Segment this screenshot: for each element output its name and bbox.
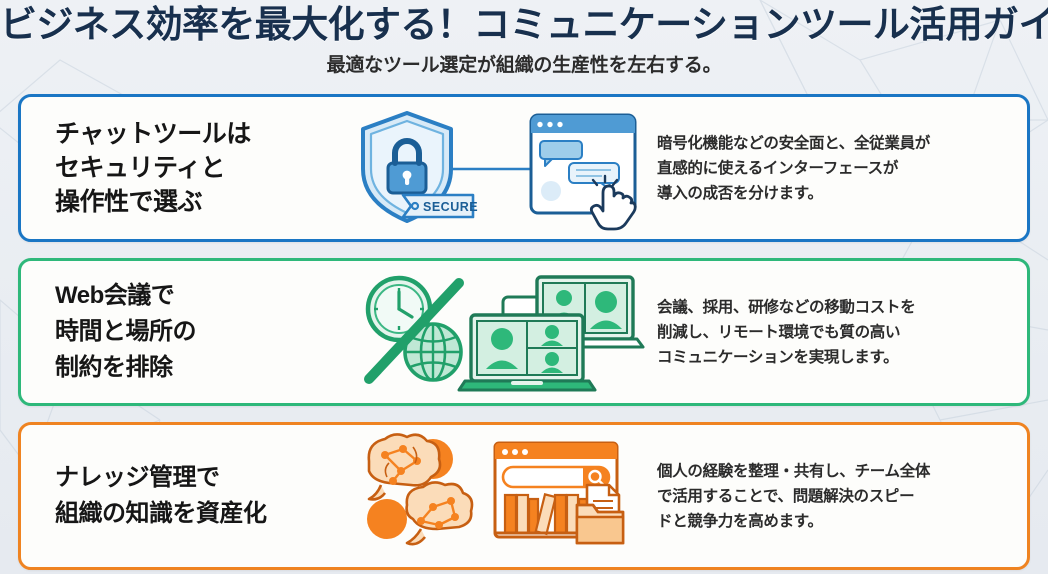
card-description-line: コミュニケーションを実現します。 — [657, 345, 1013, 370]
secure-badge-label: SECURE — [423, 200, 478, 214]
card-description-line: 削減し、リモート環境でも質の高い — [657, 320, 1013, 345]
page-header: ビジネス効率を最大化する！コミュニケーションツール活用ガイド 最適なツール選定が… — [0, 0, 1048, 92]
card-title-line: 操作性で選ぶ — [55, 185, 351, 219]
card-description-line: で活用することで、問題解決のスピー — [657, 484, 1013, 509]
card-title-line: 制約を排除 — [55, 350, 351, 386]
security-shield-lock-chat-icon: SECURE — [351, 102, 651, 234]
card-description-line: 導入の成否を分けます。 — [657, 181, 1013, 206]
card-title-line: ナレッジ管理で — [55, 460, 351, 496]
card-title-line: セキュリティと — [55, 151, 351, 185]
card-title-line: 組織の知識を資産化 — [55, 496, 351, 532]
card-title: Web会議で 時間と場所の 制約を排除 — [21, 278, 351, 386]
card-title: チャットツールは セキュリティと 操作性で選ぶ — [21, 117, 351, 219]
clock-globe-video-conference-icon — [351, 266, 651, 398]
card-title-line: Web会議で — [55, 278, 351, 314]
card-knowledge-management[interactable]: ナレッジ管理で 組織の知識を資産化 — [18, 422, 1030, 570]
card-title-line: 時間と場所の — [55, 314, 351, 350]
card-chat-security[interactable]: チャットツールは セキュリティと 操作性で選ぶ — [18, 94, 1030, 242]
card-description-line: 会議、採用、研修などの移動コストを — [657, 295, 1013, 320]
card-description: 個人の経験を整理・共有し、チーム全体 で活用することで、問題解決のスピー ドと競… — [651, 459, 1027, 534]
card-description: 暗号化機能などの安全面と、全従業員が 直感的に使えるインターフェースが 導入の成… — [651, 131, 1027, 206]
card-description: 会議、採用、研修などの移動コストを 削減し、リモート環境でも質の高い コミュニケ… — [651, 295, 1027, 370]
page-title: ビジネス効率を最大化する！コミュニケーションツール活用ガイド — [0, 0, 1048, 48]
brain-knowledge-search-library-icon — [351, 430, 651, 562]
card-web-meeting[interactable]: Web会議で 時間と場所の 制約を排除 — [18, 258, 1030, 406]
page-subtitle: 最適なツール選定が組織の生産性を左右する。 — [0, 54, 1048, 78]
card-title: ナレッジ管理で 組織の知識を資産化 — [21, 460, 351, 532]
infographic-page: ビジネス効率を最大化する！コミュニケーションツール活用ガイド 最適なツール選定が… — [0, 0, 1048, 574]
card-list: チャットツールは セキュリティと 操作性で選ぶ — [0, 92, 1048, 570]
card-title-line: チャットツールは — [55, 117, 351, 151]
card-description-line: ドと競争力を高めます。 — [657, 509, 1013, 534]
card-description-line: 暗号化機能などの安全面と、全従業員が — [657, 131, 1013, 156]
card-description-line: 直感的に使えるインターフェースが — [657, 156, 1013, 181]
card-description-line: 個人の経験を整理・共有し、チーム全体 — [657, 459, 1013, 484]
